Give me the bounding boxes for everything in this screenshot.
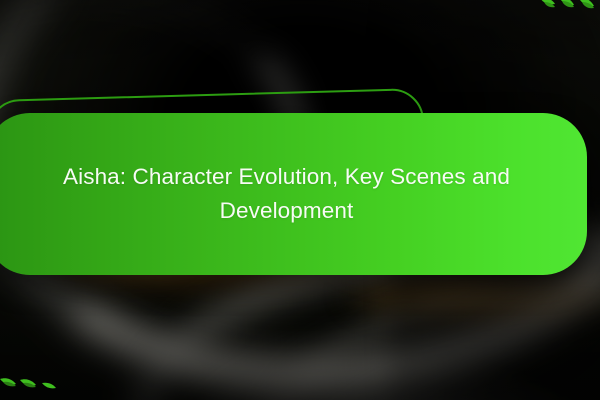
leaf-group-icon bbox=[536, 0, 598, 16]
hero-title-card: Aisha: Character Evolution, Key Scenes a… bbox=[0, 113, 587, 275]
page-title: Aisha: Character Evolution, Key Scenes a… bbox=[52, 160, 522, 228]
leaf-decoration-bottom-left bbox=[0, 371, 62, 396]
leaf-group-icon bbox=[0, 371, 62, 391]
leaf-decoration-top-right bbox=[536, 0, 598, 21]
hero-banner-page: Aisha: Character Evolution, Key Scenes a… bbox=[0, 0, 600, 400]
